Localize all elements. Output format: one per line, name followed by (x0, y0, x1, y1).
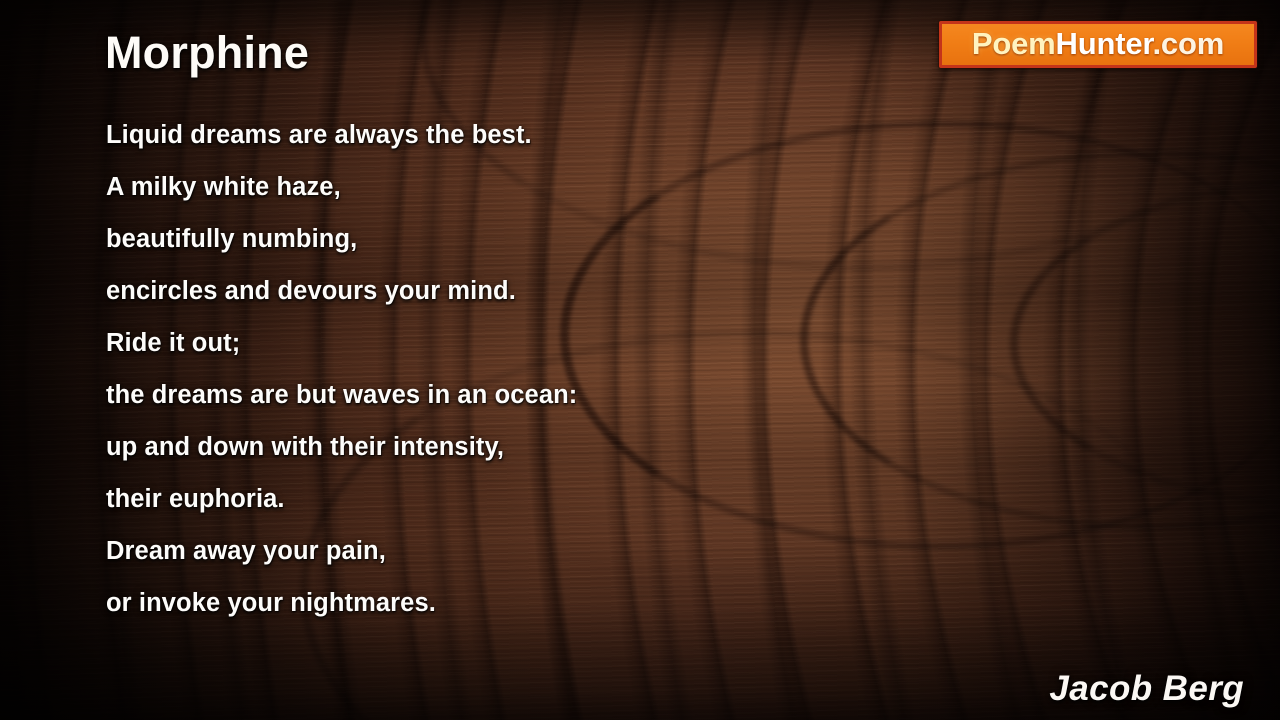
poemhunter-logo[interactable]: PoemHunter.com (939, 21, 1257, 68)
logo-word-poem: Poem (972, 26, 1056, 61)
poemhunter-logo-text: PoemHunter.com (972, 28, 1224, 59)
poem-line: beautifully numbing, (106, 213, 966, 265)
poem-line: the dreams are but waves in an ocean: (106, 369, 966, 421)
author-signature: Jacob Berg (1049, 669, 1244, 709)
logo-word-dotcom: .com (1153, 26, 1225, 61)
poem-line: or invoke your nightmares. (106, 577, 966, 629)
page-title: Morphine (105, 27, 309, 79)
poem-line: Ride it out; (106, 317, 966, 369)
poem-line: A milky white haze, (106, 161, 966, 213)
poem-content: Morphine Liquid dreams are always the be… (0, 0, 1280, 720)
logo-word-hunter: Hunter (1056, 26, 1153, 61)
poem-line: up and down with their intensity, (106, 421, 966, 473)
poem-image-card: Morphine Liquid dreams are always the be… (0, 0, 1280, 720)
poem-line: Dream away your pain, (106, 525, 966, 577)
poem-line: Liquid dreams are always the best. (106, 109, 966, 161)
poem-line: their euphoria. (106, 473, 966, 525)
poem-text-body: Liquid dreams are always the best. A mil… (106, 109, 966, 629)
poem-line: encircles and devours your mind. (106, 265, 966, 317)
